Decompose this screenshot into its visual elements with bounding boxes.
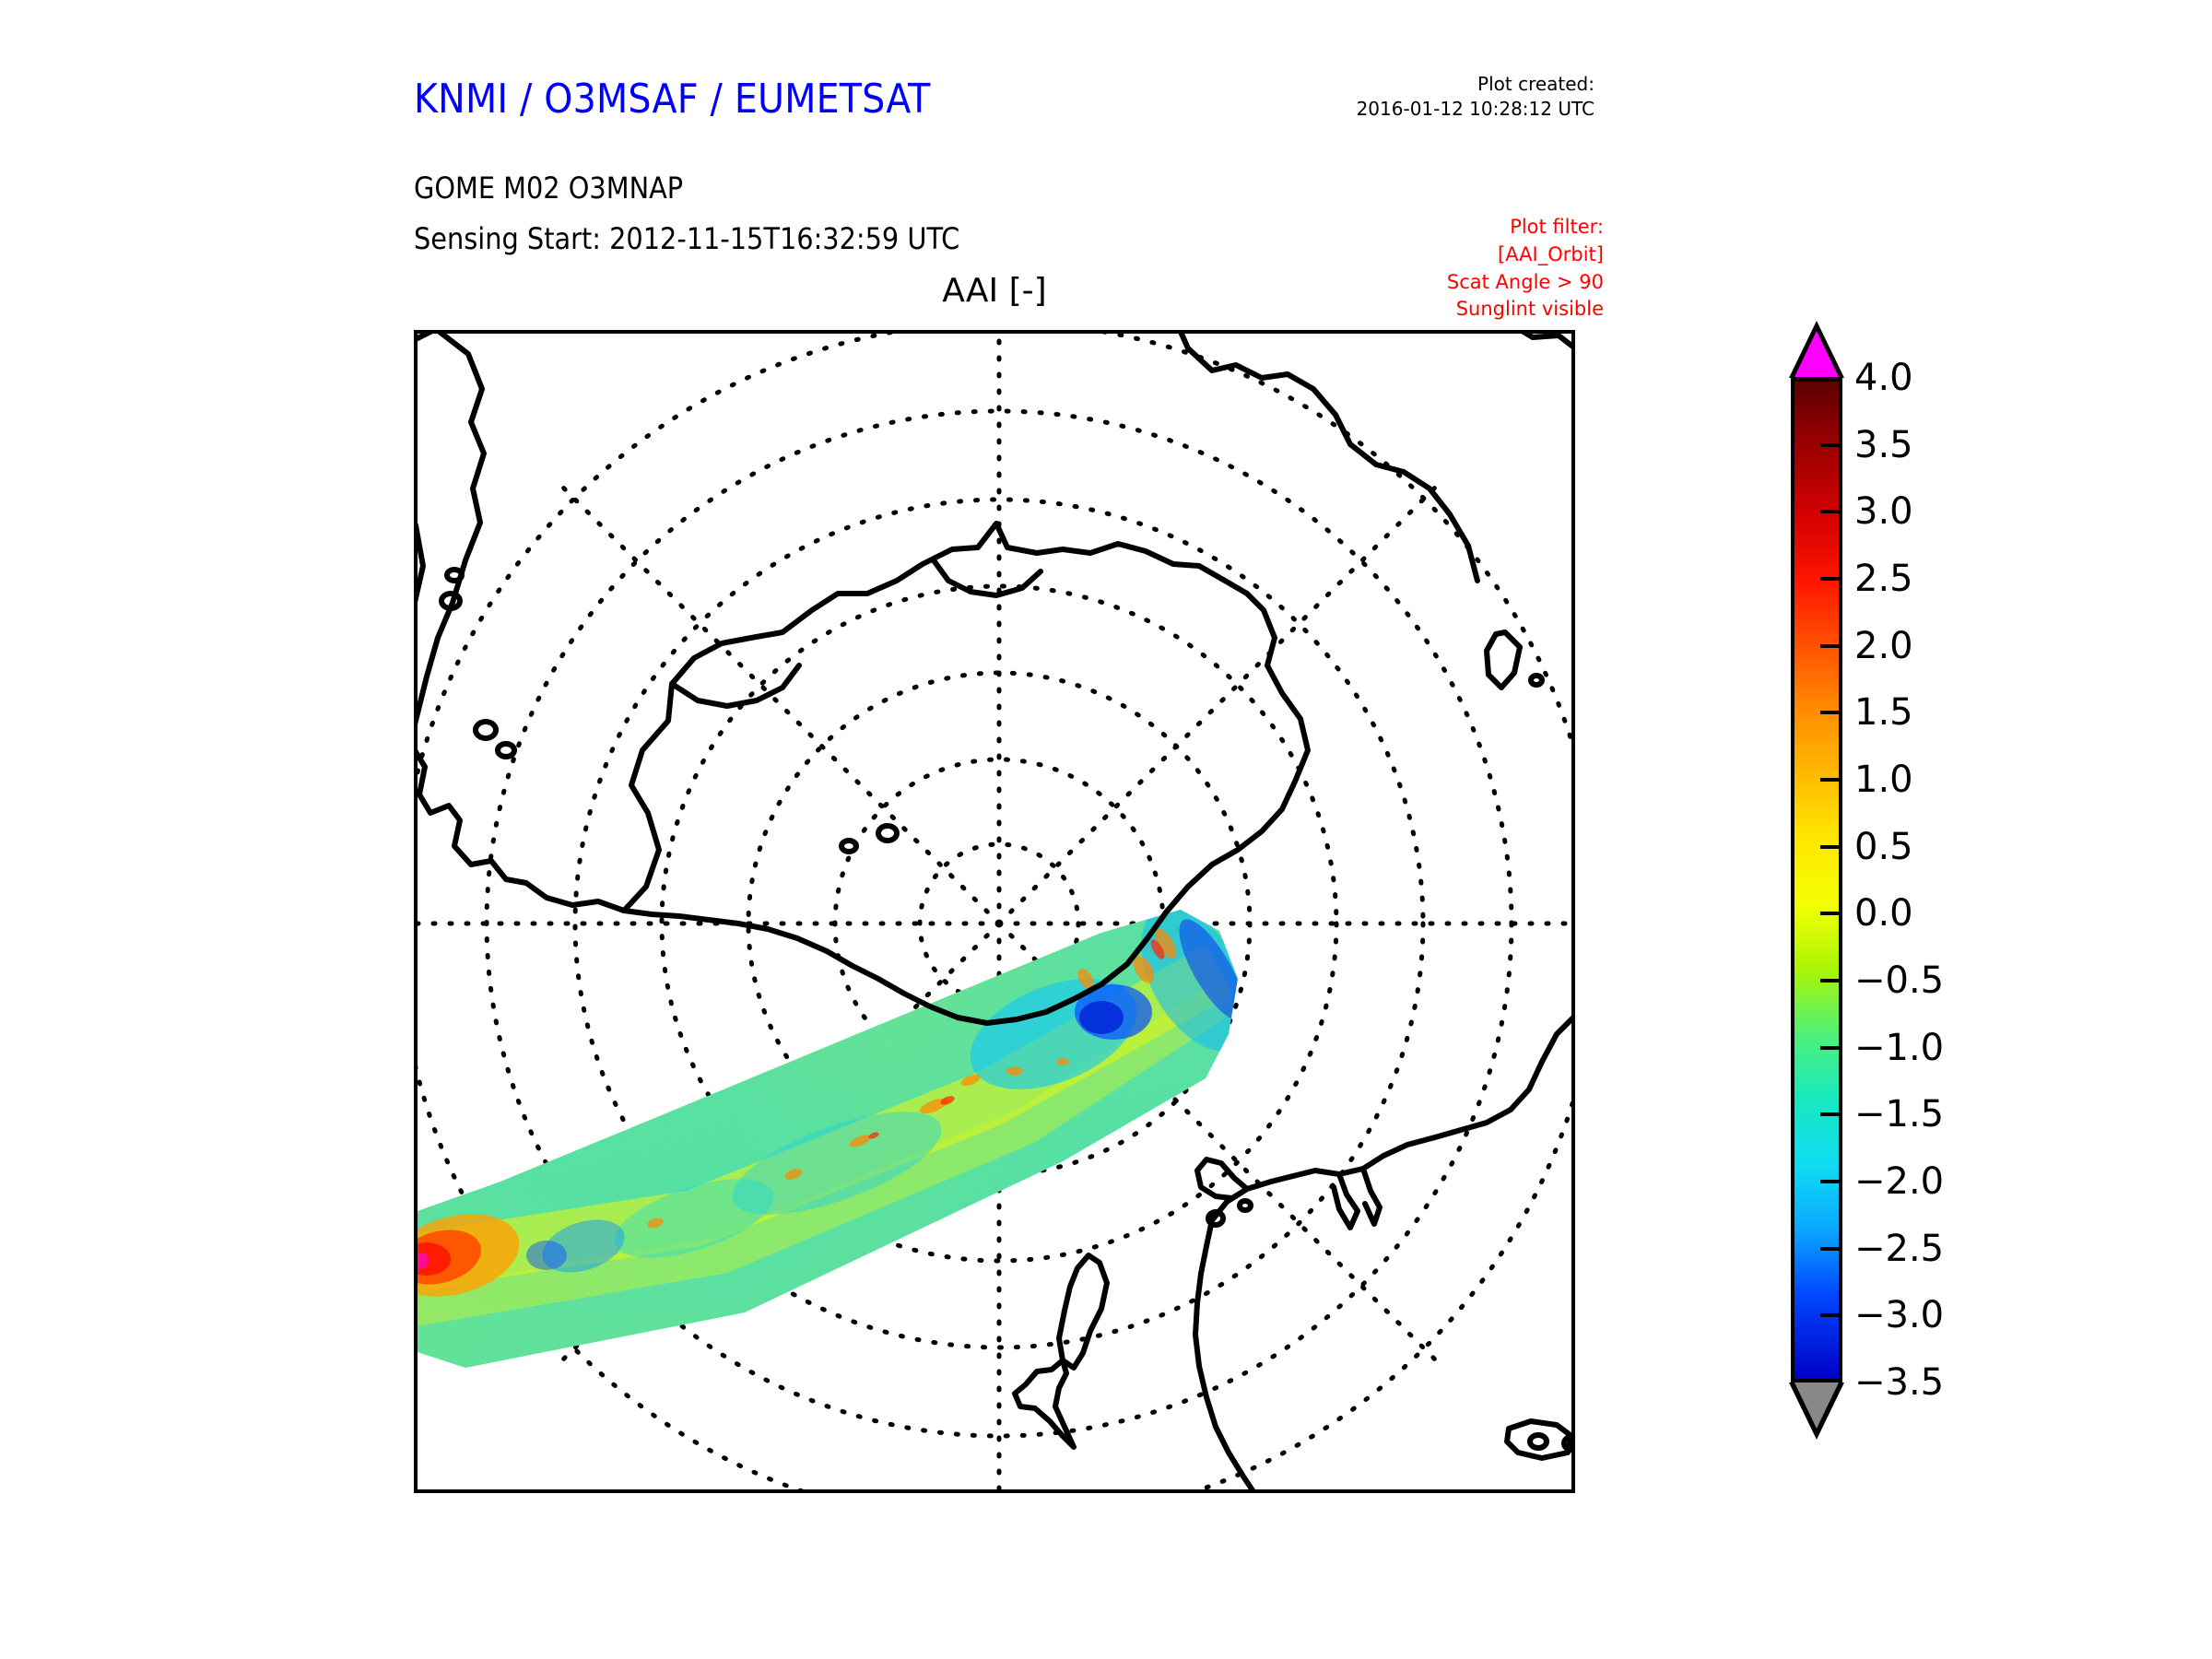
colorbar-tick-label: 0.5 (1854, 829, 1913, 865)
plot-filter-label: Plot filter: (1309, 214, 1604, 241)
colorbar-tick (1820, 778, 1841, 782)
polar-map-svg (418, 334, 1575, 1493)
colorbar-tick-label: 3.0 (1854, 493, 1913, 530)
colorbar-tick-label: −3.0 (1854, 1297, 1944, 1334)
colorbar-tick-label: −1.0 (1854, 1030, 1944, 1066)
colorbar[interactable]: 4.03.53.02.52.01.51.00.50.0−0.5−1.0−1.5−… (1779, 313, 2166, 1512)
colorbar-tick-label: 0.0 (1854, 895, 1913, 932)
colorbar-tick (1820, 845, 1841, 849)
plot-created-label: Plot created: (1272, 72, 1594, 97)
colorbar-under-arrow (1794, 1382, 1839, 1429)
colorbar-tick-label: 2.0 (1854, 628, 1913, 665)
colorbar-tick-label: −2.0 (1854, 1163, 1944, 1200)
colorbar-tick (1820, 443, 1841, 447)
colorbar-tick (1820, 979, 1841, 982)
colorbar-tick-label: −0.5 (1854, 962, 1944, 999)
colorbar-gradient (1791, 378, 1842, 1382)
colorbar-tick-label: 3.5 (1854, 427, 1913, 464)
colorbar-tick (1820, 711, 1841, 714)
colorbar-tick (1820, 1046, 1841, 1050)
sensing-start-line: Sensing Start: 2012-11-15T16:32:59 UTC (414, 221, 959, 256)
colorbar-tick (1820, 1247, 1841, 1251)
plot-created-block: Plot created: 2016-01-12 10:28:12 UTC (1272, 72, 1594, 122)
plot-created-timestamp: 2016-01-12 10:28:12 UTC (1272, 97, 1594, 122)
plot-filter-name: [AAI_Orbit] (1309, 241, 1604, 269)
colorbar-tick-label: −2.5 (1854, 1230, 1944, 1267)
colorbar-tick (1820, 1112, 1841, 1116)
colorbar-tick (1820, 577, 1841, 581)
colorbar-tick (1820, 644, 1841, 648)
chart-title: AAI [-] (414, 272, 1575, 310)
colorbar-tick-label: 4.0 (1854, 359, 1913, 396)
colorbar-tick (1820, 1313, 1841, 1317)
product-line: GOME M02 O3MNAP (414, 171, 683, 206)
colorbar-tick-label: 2.5 (1854, 560, 1913, 597)
colorbar-over-arrow (1794, 331, 1839, 377)
colorbar-tick-label: −3.5 (1854, 1364, 1944, 1401)
colorbar-tick-label: 1.0 (1854, 761, 1913, 798)
colorbar-tick (1820, 1180, 1841, 1183)
colorbar-tick-label: 1.5 (1854, 694, 1913, 731)
map-plot-area[interactable] (414, 330, 1575, 1493)
page-title: KNMI / O3MSAF / EUMETSAT (414, 76, 931, 123)
colorbar-tick-label: −1.5 (1854, 1096, 1944, 1133)
colorbar-tick (1820, 912, 1841, 915)
colorbar-tick (1820, 510, 1841, 513)
